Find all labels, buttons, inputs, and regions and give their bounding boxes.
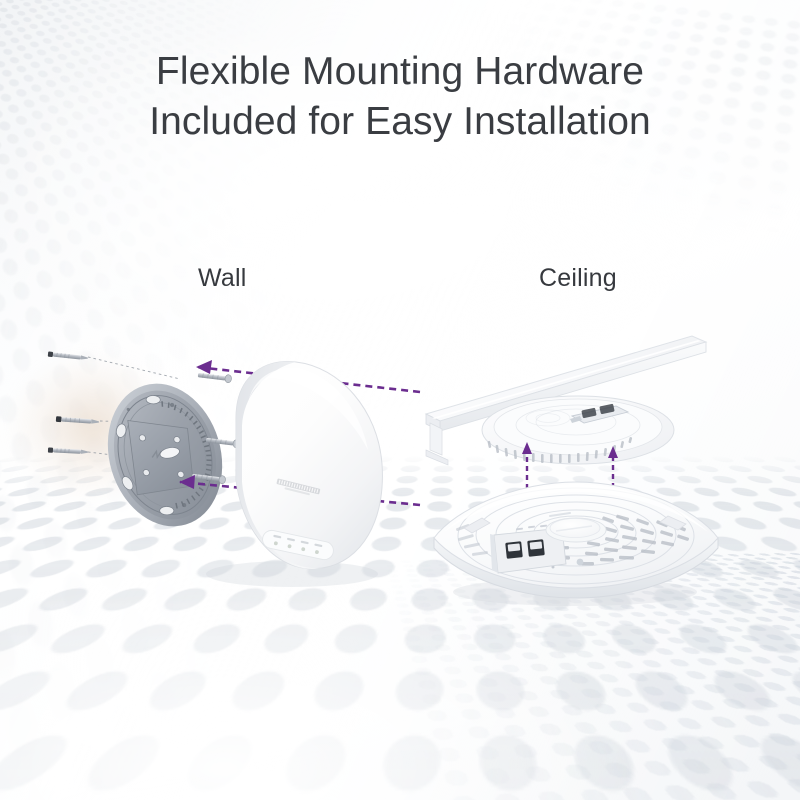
- wall-mount-illustration: [30, 330, 420, 600]
- mounting-screws-left: [48, 351, 99, 454]
- section-label-ceiling: Ceiling: [539, 264, 617, 293]
- page-title-line-2: Included for Easy Installation: [0, 97, 800, 147]
- ceiling-mount-illustration: [420, 330, 730, 610]
- section-label-wall: Wall: [198, 264, 246, 293]
- page-title: Flexible Mounting Hardware Included for …: [0, 47, 800, 146]
- device-body: [236, 361, 382, 568]
- arrow-head-top: [196, 360, 212, 374]
- graphic-canvas: Flexible Mounting Hardware Included for …: [0, 0, 800, 800]
- reset-pinhole: [577, 559, 584, 566]
- page-title-line-1: Flexible Mounting Hardware: [156, 50, 644, 93]
- access-point-device-wall: [236, 361, 382, 568]
- ceiling-mount-bracket: [482, 396, 674, 464]
- wall-mount-bracket: [99, 382, 232, 529]
- access-point-device-ceiling: [434, 482, 718, 606]
